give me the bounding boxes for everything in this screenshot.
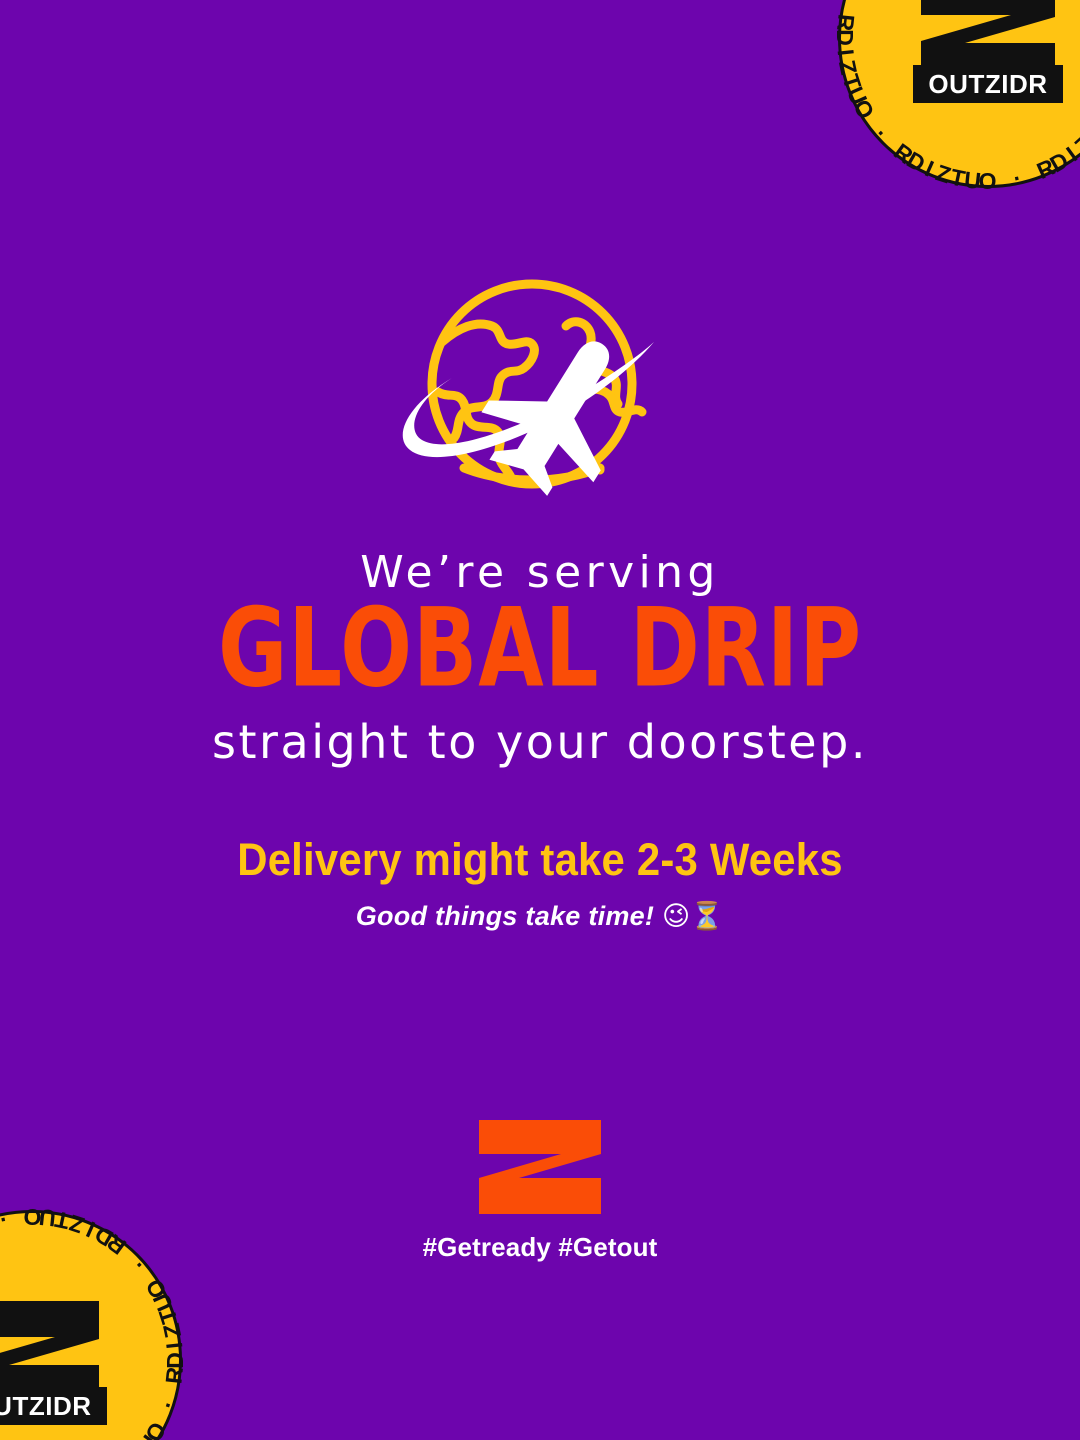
tagline-text: Good things take time! <box>356 901 654 931</box>
badge-ring-char: · <box>868 122 894 146</box>
badge-ring-char: · <box>126 1252 152 1276</box>
badge-ring-char: · <box>154 1396 182 1413</box>
outzidr-stamp-badge-top-right: OUTZIDR·OUTZIDR·OUTZIDR·OUTZIDR·OUTZIDR·… <box>838 0 1080 188</box>
hourglass-emoji: ⏳ <box>690 901 724 932</box>
badge-ring-char: · <box>837 0 865 2</box>
badge-ring-char: I <box>831 48 859 58</box>
winking-face-emoji: 😉 <box>662 901 690 932</box>
delivery-notice: Delivery might take 2-3 Weeks <box>38 835 1042 885</box>
headline-block: We’re serving GLOBAL DRIP straight to yo… <box>0 548 1080 934</box>
badge-core-label-top-right: OUTZIDR <box>913 65 1063 103</box>
badge-ring-char: R <box>160 1365 189 1385</box>
outzidr-z-logo <box>477 1118 603 1216</box>
globe-airplane-icon <box>360 272 720 512</box>
badge-ring-char: · <box>1011 164 1025 192</box>
badge-core-bottom-left: OUTZIDR <box>0 1295 107 1425</box>
poster-canvas: OUTZIDR·OUTZIDR·OUTZIDR·OUTZIDR·OUTZIDR·… <box>0 0 1080 1440</box>
badge-core-top-right: OUTZIDR <box>913 0 1063 103</box>
badge-core-label-bottom-left: OUTZIDR <box>0 1387 107 1425</box>
hashtags-label: #Getready #Getout <box>423 1232 658 1263</box>
badge-ring-char: I <box>161 1340 189 1350</box>
globe-airplane-svg <box>360 272 720 512</box>
footer-brand-block: #Getready #Getout <box>0 1118 1080 1263</box>
delivery-tagline: Good things take time! 😉⏳ <box>0 900 1080 933</box>
headline-line-3: straight to your doorstep. <box>0 717 1080 769</box>
headline-line-2: GLOBAL DRIP <box>43 595 1037 704</box>
badge-ring-char: R <box>831 13 860 33</box>
